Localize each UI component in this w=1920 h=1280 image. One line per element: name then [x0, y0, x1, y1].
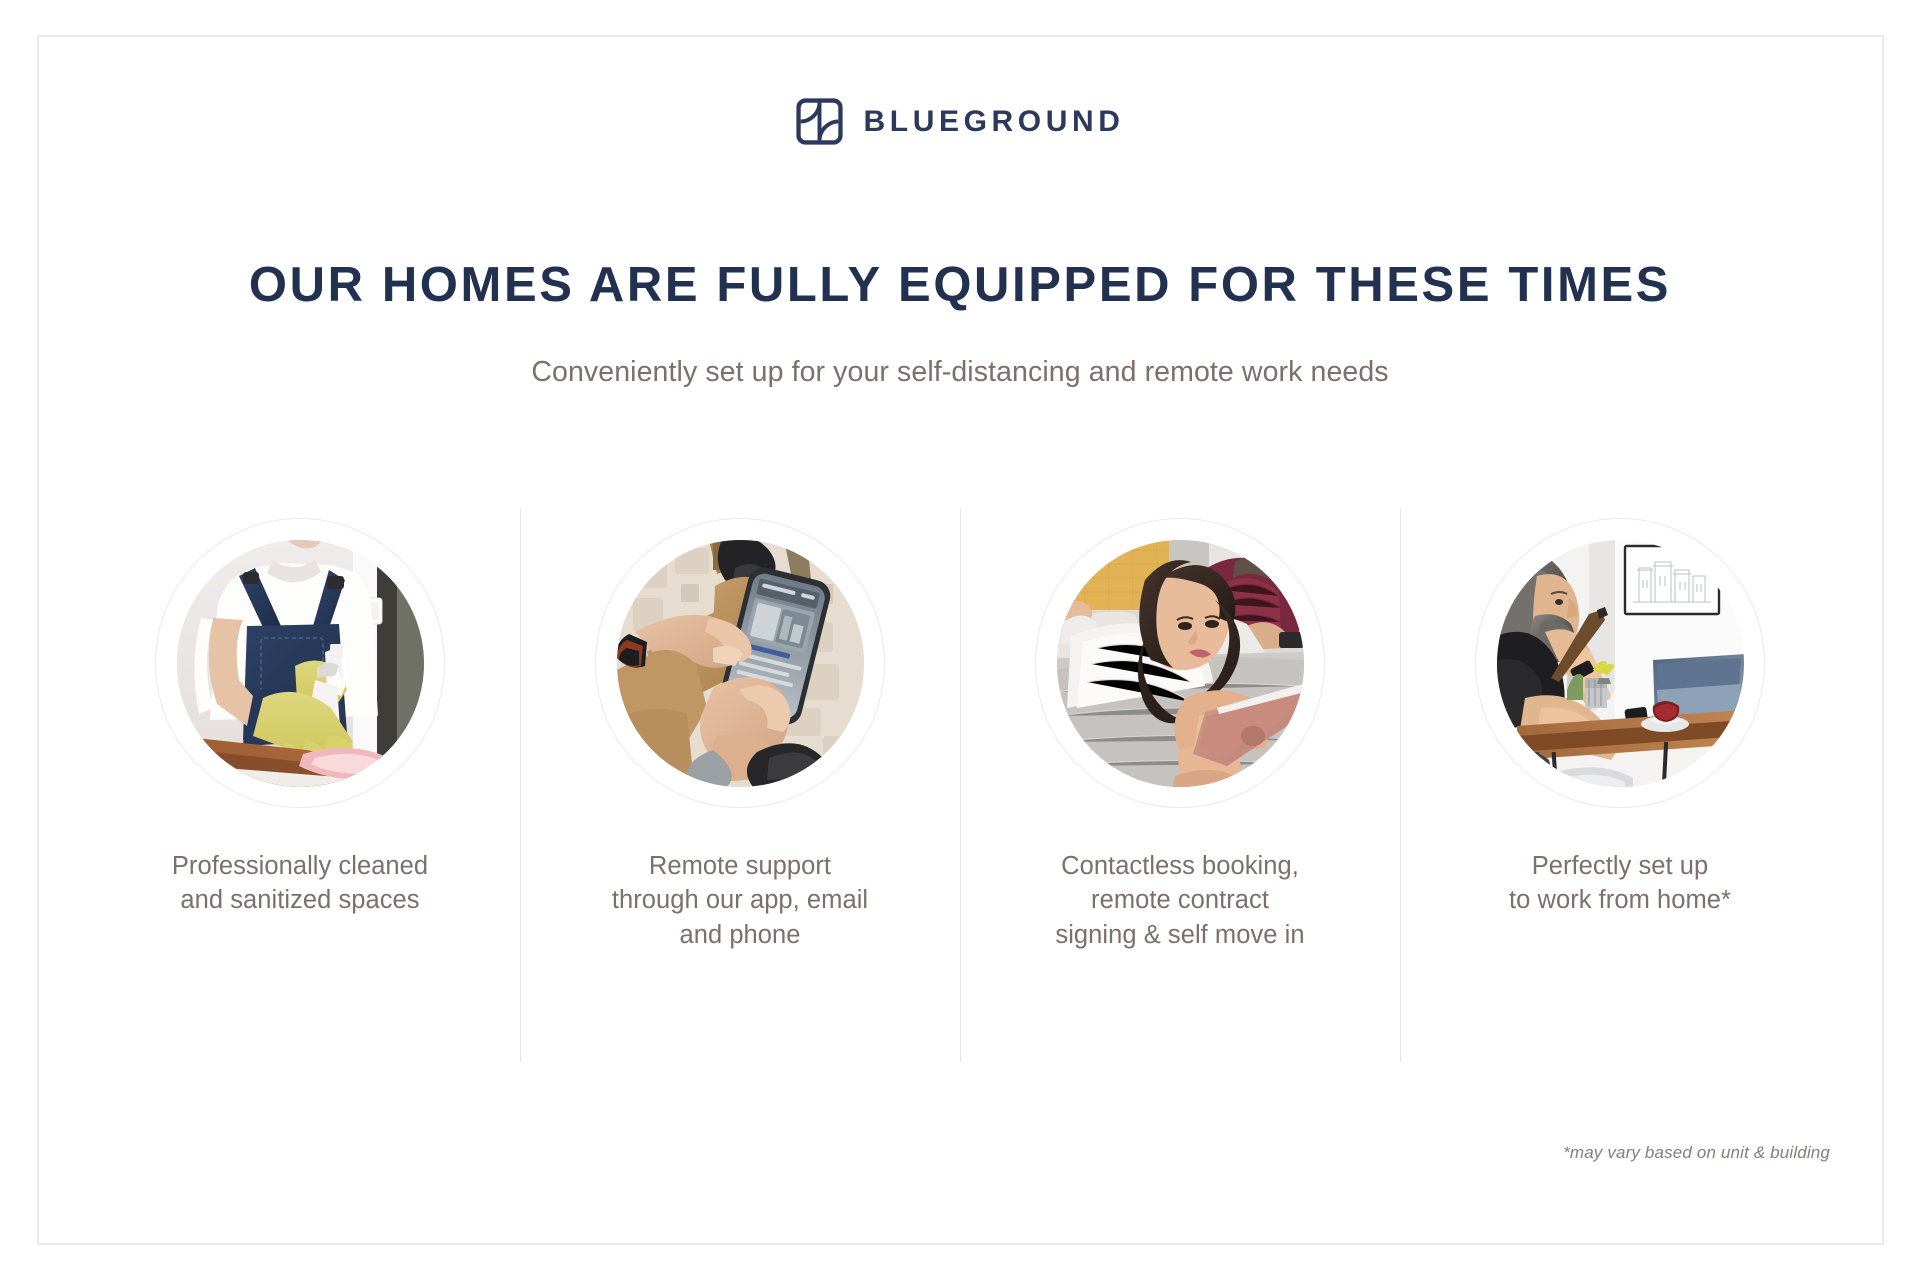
blueground-square-logo-icon: [796, 98, 843, 145]
caption-line: signing & self move in: [960, 918, 1400, 952]
infographic-page: BLUEGROUND OUR HOMES ARE FULLY EQUIPPED …: [0, 0, 1920, 1280]
feature-caption: Perfectly set up to work from home*: [1400, 849, 1840, 918]
caption-line: Contactless booking,: [960, 849, 1400, 883]
feature-caption: Remote support through our app, email an…: [520, 849, 960, 952]
photo-ring: [155, 518, 445, 808]
caption-line: to work from home*: [1400, 883, 1840, 917]
page-subtitle: Conveniently set up for your self-distan…: [0, 354, 1920, 391]
feature-item-contactless-booking: Contactless booking, remote contract sig…: [960, 508, 1400, 1068]
photo-ring: [1035, 518, 1325, 808]
feature-item-work-from-home: Perfectly set up to work from home*: [1400, 508, 1840, 1068]
caption-line: Professionally cleaned: [80, 849, 520, 883]
page-title: OUR HOMES ARE FULLY EQUIPPED FOR THESE T…: [0, 258, 1920, 313]
cleaning-person-photo: [177, 540, 424, 787]
caption-line: Perfectly set up: [1400, 849, 1840, 883]
caption-line: remote contract: [960, 883, 1400, 917]
feature-item-cleaning: Professionally cleaned and sanitized spa…: [80, 508, 520, 1068]
brand-name: BLUEGROUND: [864, 107, 1125, 137]
feature-caption: Contactless booking, remote contract sig…: [960, 849, 1400, 952]
man-at-desk-photo: [1497, 540, 1744, 787]
feature-list: Professionally cleaned and sanitized spa…: [80, 508, 1840, 1068]
phone-in-hands-photo: [617, 540, 864, 787]
caption-line: Remote support: [520, 849, 960, 883]
woman-with-tablet-photo: [1057, 540, 1304, 787]
footnote-disclaimer: *may vary based on unit & building: [1563, 1143, 1830, 1163]
photo-ring: [1475, 518, 1765, 808]
caption-line: and sanitized spaces: [80, 883, 520, 917]
feature-caption: Professionally cleaned and sanitized spa…: [80, 849, 520, 918]
caption-line: through our app, email: [520, 883, 960, 917]
photo-ring: [595, 518, 885, 808]
caption-line: and phone: [520, 918, 960, 952]
feature-item-remote-support: Remote support through our app, email an…: [520, 508, 960, 1068]
brand-lockup: BLUEGROUND: [0, 98, 1920, 145]
